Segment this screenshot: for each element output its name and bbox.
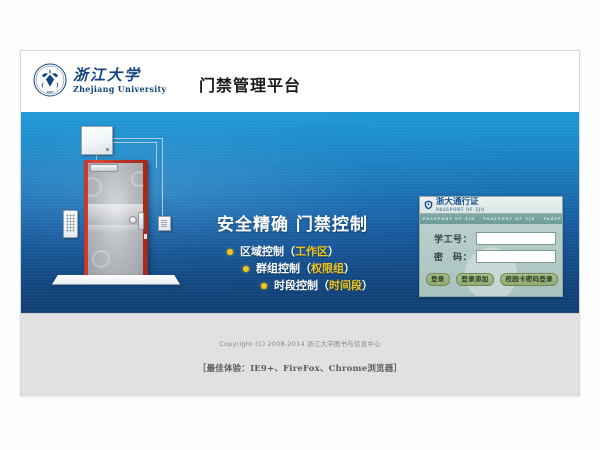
university-name-en: Zhejiang University — [73, 84, 166, 94]
login-panel-title: 浙大通行证 PASSPORT OF ZJU — [436, 198, 485, 212]
feature-item-group-control: 群组控制（权限组） — [243, 260, 373, 277]
feature-list: 区域控制（工作区） 群组控制（权限组） 时段控制（时间段） — [227, 243, 373, 294]
site-footer: Copyright (C) 2008-2014 浙江大学图书与信息中心 ［最佳体… — [21, 313, 579, 396]
hero-banner: 安全精确 门禁控制 区域控制（工作区） 群组控制（权限组） 时段控制（时间段） — [21, 112, 579, 313]
browser-support-note: ［最佳体验：IE9+、FireFox、Chrome浏览器］ — [21, 362, 579, 374]
banner-headline: 安全精确 门禁控制 — [217, 210, 368, 235]
gear-decoration — [92, 250, 110, 268]
feature-suffix: ） — [362, 277, 373, 294]
feature-highlight: 时间段 — [329, 277, 362, 294]
feature-highlight: 工作区 — [295, 243, 328, 260]
gear-decoration — [88, 177, 102, 197]
keypad-reader-icon — [63, 210, 78, 238]
wire-down-to-reader — [162, 138, 163, 216]
stripe-text: PASSPORT OF ZJU — [423, 217, 475, 221]
username-input[interactable] — [476, 232, 556, 245]
door-status-led — [144, 234, 147, 239]
campus-card-login-button[interactable]: 校园卡密码登录 — [500, 273, 558, 286]
wire-controller-to-door-top — [111, 138, 163, 139]
svg-text:1897: 1897 — [46, 90, 54, 94]
gear-decoration — [131, 171, 143, 187]
feature-item-area-control: 区域控制（工作区） — [227, 243, 373, 260]
door-sheen-secondary — [88, 225, 143, 233]
access-controller-icon — [81, 126, 113, 155]
copyright-text: Copyright (C) 2008-2014 浙江大学图书与信息中心 — [21, 338, 579, 348]
card-reader-icon — [158, 216, 171, 231]
login-title-cn: 浙大通行证 — [436, 198, 485, 207]
site-header: 1897 浙江大学 Zhejiang University 门禁管理平台 — [21, 51, 579, 112]
university-name: 浙江大学 Zhejiang University — [73, 67, 166, 94]
bullet-dot-icon — [243, 266, 249, 272]
feature-label: 区域控制（ — [240, 243, 295, 260]
door-access-illustration — [43, 118, 193, 303]
stripe-text: PASSPORT OF ZJU — [543, 217, 562, 221]
username-label: 学工号： — [428, 232, 472, 245]
bullet-dot-icon — [227, 249, 233, 255]
shield-icon — [424, 200, 433, 210]
wire-branch-down — [156, 142, 157, 168]
security-door-icon — [84, 160, 148, 278]
login-add-button[interactable]: 登录添加 — [456, 273, 493, 286]
feature-suffix: ） — [344, 260, 355, 277]
feature-highlight: 权限组 — [311, 260, 344, 277]
content-card: 1897 浙江大学 Zhejiang University 门禁管理平台 — [20, 50, 580, 396]
login-panel: 浙大通行证 PASSPORT OF ZJU PASSPORT OF ZJU PA… — [419, 196, 563, 297]
username-row: 学工号： — [428, 232, 556, 245]
password-row: 密 码： — [428, 250, 556, 263]
login-watermark-stripe: PASSPORT OF ZJU PASSPORT OF ZJU PASSPORT… — [420, 214, 562, 224]
login-button-row: 登录 登录添加 校园卡密码登录 — [426, 273, 558, 286]
site-logo[interactable]: 1897 浙江大学 Zhejiang University — [33, 63, 166, 97]
feature-label: 时段控制（ — [274, 277, 329, 294]
feature-label: 群组控制（ — [256, 260, 311, 277]
login-title-en: PASSPORT OF ZJU — [436, 207, 485, 212]
university-name-cn: 浙江大学 — [73, 67, 166, 84]
door-knob-icon — [129, 216, 137, 224]
page-root: 1897 浙江大学 Zhejiang University 门禁管理平台 — [0, 0, 600, 450]
password-label: 密 码： — [428, 250, 472, 263]
feature-item-time-control: 时段控制（时间段） — [261, 277, 373, 294]
floor-plate — [52, 275, 180, 284]
login-panel-header: 浙大通行证 PASSPORT OF ZJU — [420, 197, 562, 214]
door-handle-icon — [138, 212, 144, 230]
page-title: 门禁管理平台 — [199, 72, 301, 96]
bullet-dot-icon — [261, 283, 267, 289]
password-input[interactable] — [476, 250, 556, 263]
door-closer-icon — [90, 164, 118, 172]
zju-emblem-icon: 1897 — [33, 63, 67, 97]
stripe-text: PASSPORT OF ZJU — [483, 217, 535, 221]
keypad-dots — [66, 214, 75, 232]
wire-controller-branch — [111, 142, 157, 143]
login-button[interactable]: 登录 — [426, 273, 450, 286]
feature-suffix: ） — [328, 243, 339, 260]
